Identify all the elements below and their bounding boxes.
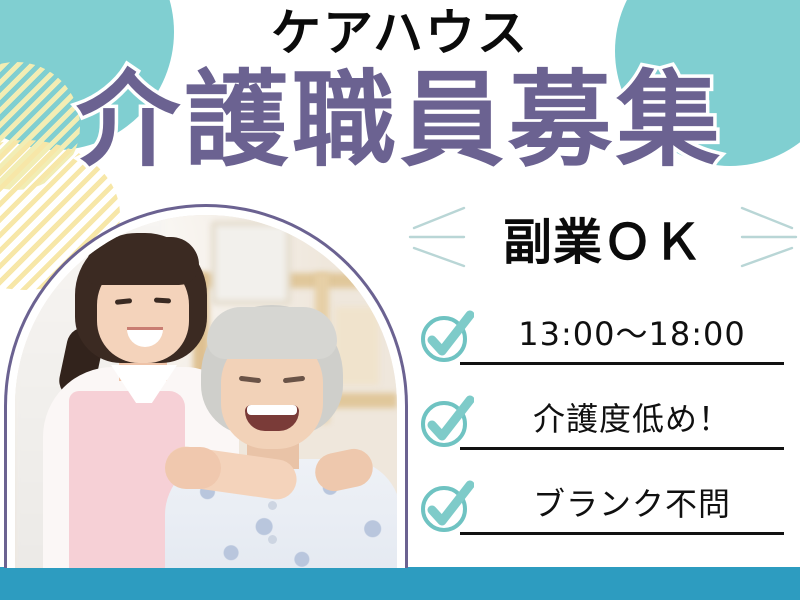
caregiver-fringe (87, 237, 199, 285)
list-item-label: ブランク不問 (478, 479, 800, 535)
kicker-text: ケアハウス (0, 4, 800, 62)
emphasis-rays-right-icon (740, 204, 798, 272)
list-item: 13:00〜18:00 (406, 294, 800, 379)
elderly-blouse-button-2 (268, 535, 277, 544)
list-item: 介護度低め！ (406, 379, 800, 464)
right-content-column: 副業ＯＫ 13:00〜18:00 介護度 (406, 190, 800, 570)
list-item-underline (460, 532, 784, 535)
list-item-underline (460, 447, 784, 450)
poster-canvas: ケアハウス 介護職員募集 (0, 0, 800, 600)
check-circle-icon (418, 479, 474, 535)
side-job-badge-label: 副業ＯＫ (503, 203, 703, 274)
side-job-badge: 副業ＯＫ (406, 190, 800, 286)
check-circle-icon (418, 394, 474, 450)
elderly-blouse-button (268, 501, 277, 510)
elderly-teeth (247, 405, 297, 415)
emphasis-rays-left-icon (408, 204, 466, 272)
list-item-underline (460, 362, 784, 365)
elderly-hair-top (207, 307, 337, 359)
caregiver-photo (15, 215, 397, 568)
list-item-label: 13:00〜18:00 (478, 309, 800, 365)
page-title: 介護職員募集 (0, 64, 800, 176)
bottom-accent-bar (0, 567, 800, 600)
check-circle-icon (418, 309, 474, 365)
benefits-list: 13:00〜18:00 介護度低め！ ブランク不問 (406, 294, 800, 549)
photo-scene (15, 215, 397, 568)
photo-arch-frame (4, 204, 408, 568)
photo-background-frame (211, 221, 291, 305)
list-item: ブランク不問 (406, 464, 800, 549)
list-item-label: 介護度低め！ (478, 394, 800, 450)
caregiver-hand (165, 447, 221, 489)
